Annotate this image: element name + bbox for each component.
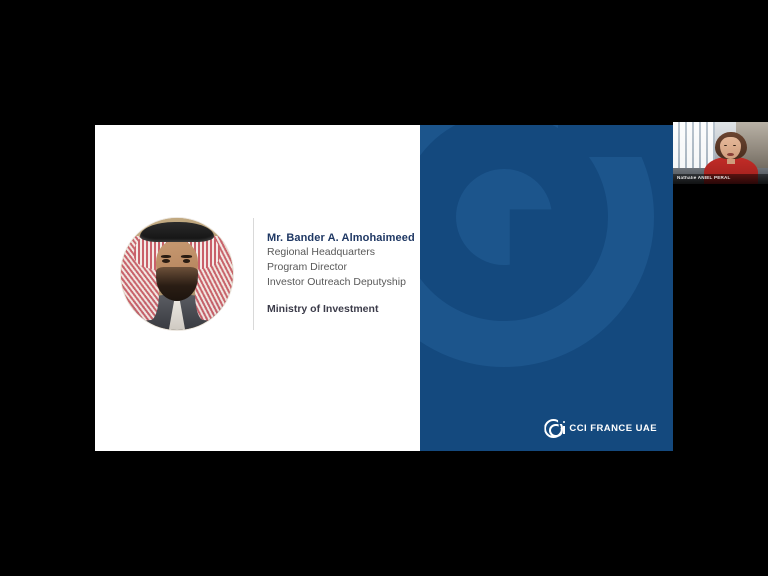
slide-right-panel: CCI FRANCE UAE bbox=[420, 125, 673, 451]
cci-wordmark: CCI FRANCE UAE bbox=[569, 423, 657, 434]
cci-i-dot-icon bbox=[563, 421, 565, 423]
presentation-slide: Mr. Bander A. Almohaimeed Regional Headq… bbox=[95, 125, 673, 451]
speaker-block: Mr. Bander A. Almohaimeed Regional Headq… bbox=[121, 218, 415, 330]
portrait-brow-right bbox=[181, 255, 191, 258]
webcam-person-eye-right bbox=[733, 145, 736, 147]
speaker-text-block: Mr. Bander A. Almohaimeed Regional Headq… bbox=[267, 218, 415, 316]
webcam-participant-name: Nathalie ANIEL PERAL bbox=[677, 176, 764, 181]
cci-logo-icon bbox=[544, 419, 563, 438]
slide-left-panel: Mr. Bander A. Almohaimeed Regional Headq… bbox=[95, 125, 420, 451]
speaker-role-line-3: Investor Outreach Deputyship bbox=[267, 275, 415, 290]
webcam-name-bar: Nathalie ANIEL PERAL bbox=[673, 174, 768, 184]
speaker-name: Mr. Bander A. Almohaimeed bbox=[267, 231, 415, 245]
speaker-text-divider bbox=[253, 218, 254, 330]
speaker-role-line-2: Program Director bbox=[267, 260, 415, 275]
speaker-portrait bbox=[121, 218, 233, 330]
speaker-role-line-1: Regional Headquarters bbox=[267, 245, 415, 260]
speaker-organization: Ministry of Investment bbox=[267, 303, 415, 317]
watermark-outer-ring bbox=[420, 125, 654, 367]
webcam-person-eye-left bbox=[724, 145, 727, 147]
watermark-inner-shape bbox=[456, 169, 552, 265]
portrait-brow-left bbox=[161, 255, 171, 258]
cci-watermark-icon bbox=[420, 125, 654, 367]
screen-share-stage: Mr. Bander A. Almohaimeed Regional Headq… bbox=[0, 0, 768, 576]
cci-i-stem-icon bbox=[563, 426, 565, 434]
portrait-agal-cord bbox=[140, 222, 214, 241]
cci-france-uae-logo: CCI FRANCE UAE bbox=[544, 419, 657, 438]
webcam-participant-tile[interactable]: Nathalie ANIEL PERAL bbox=[673, 122, 768, 184]
